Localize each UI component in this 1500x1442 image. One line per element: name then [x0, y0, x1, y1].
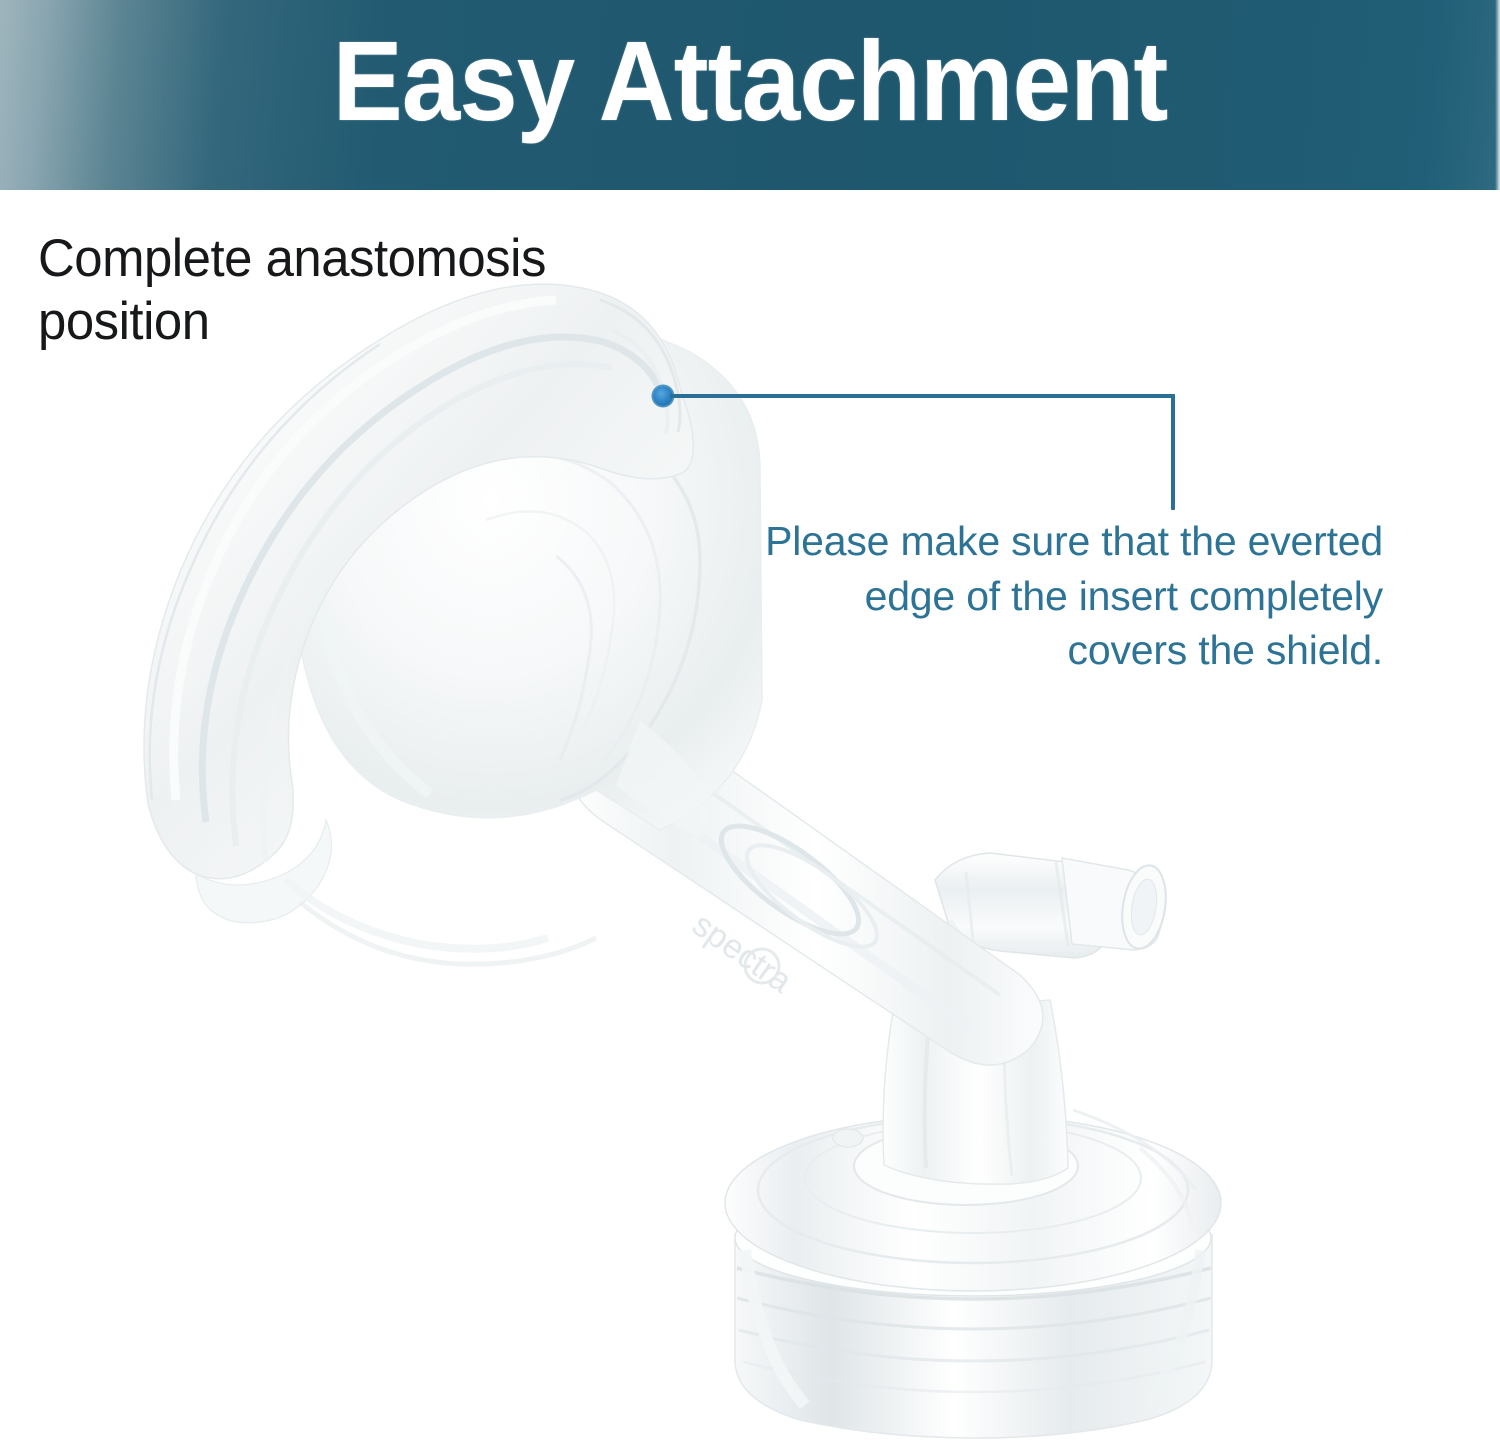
callout-line-3: covers the shield. [683, 623, 1383, 678]
header-banner: Easy Attachment [0, 0, 1500, 190]
product-illustration: spectra [0, 0, 1500, 1442]
valve-stem [883, 1000, 1068, 1184]
bottle-thread-base [735, 1180, 1212, 1438]
infographic-page: Easy Attachment Complete anastomosis pos… [0, 0, 1500, 1442]
callout-line-2: edge of the insert completely [683, 569, 1383, 624]
callout-leader-vertical [1171, 394, 1175, 510]
callout-leader-horizontal [670, 394, 1175, 398]
page-title: Easy Attachment [53, 18, 1448, 145]
callout-text-block: Please make sure that the everted edge o… [683, 514, 1383, 678]
tubing-port [935, 853, 1171, 1010]
neck-tube: spectra [572, 736, 1043, 1065]
brand-emboss-text: spectra [685, 905, 798, 1000]
flange-rim [144, 284, 693, 964]
backflow-connector [725, 1110, 1221, 1291]
section-subtitle: Complete anastomosis position [38, 228, 710, 353]
callout-line-1: Please make sure that the everted [683, 514, 1383, 569]
